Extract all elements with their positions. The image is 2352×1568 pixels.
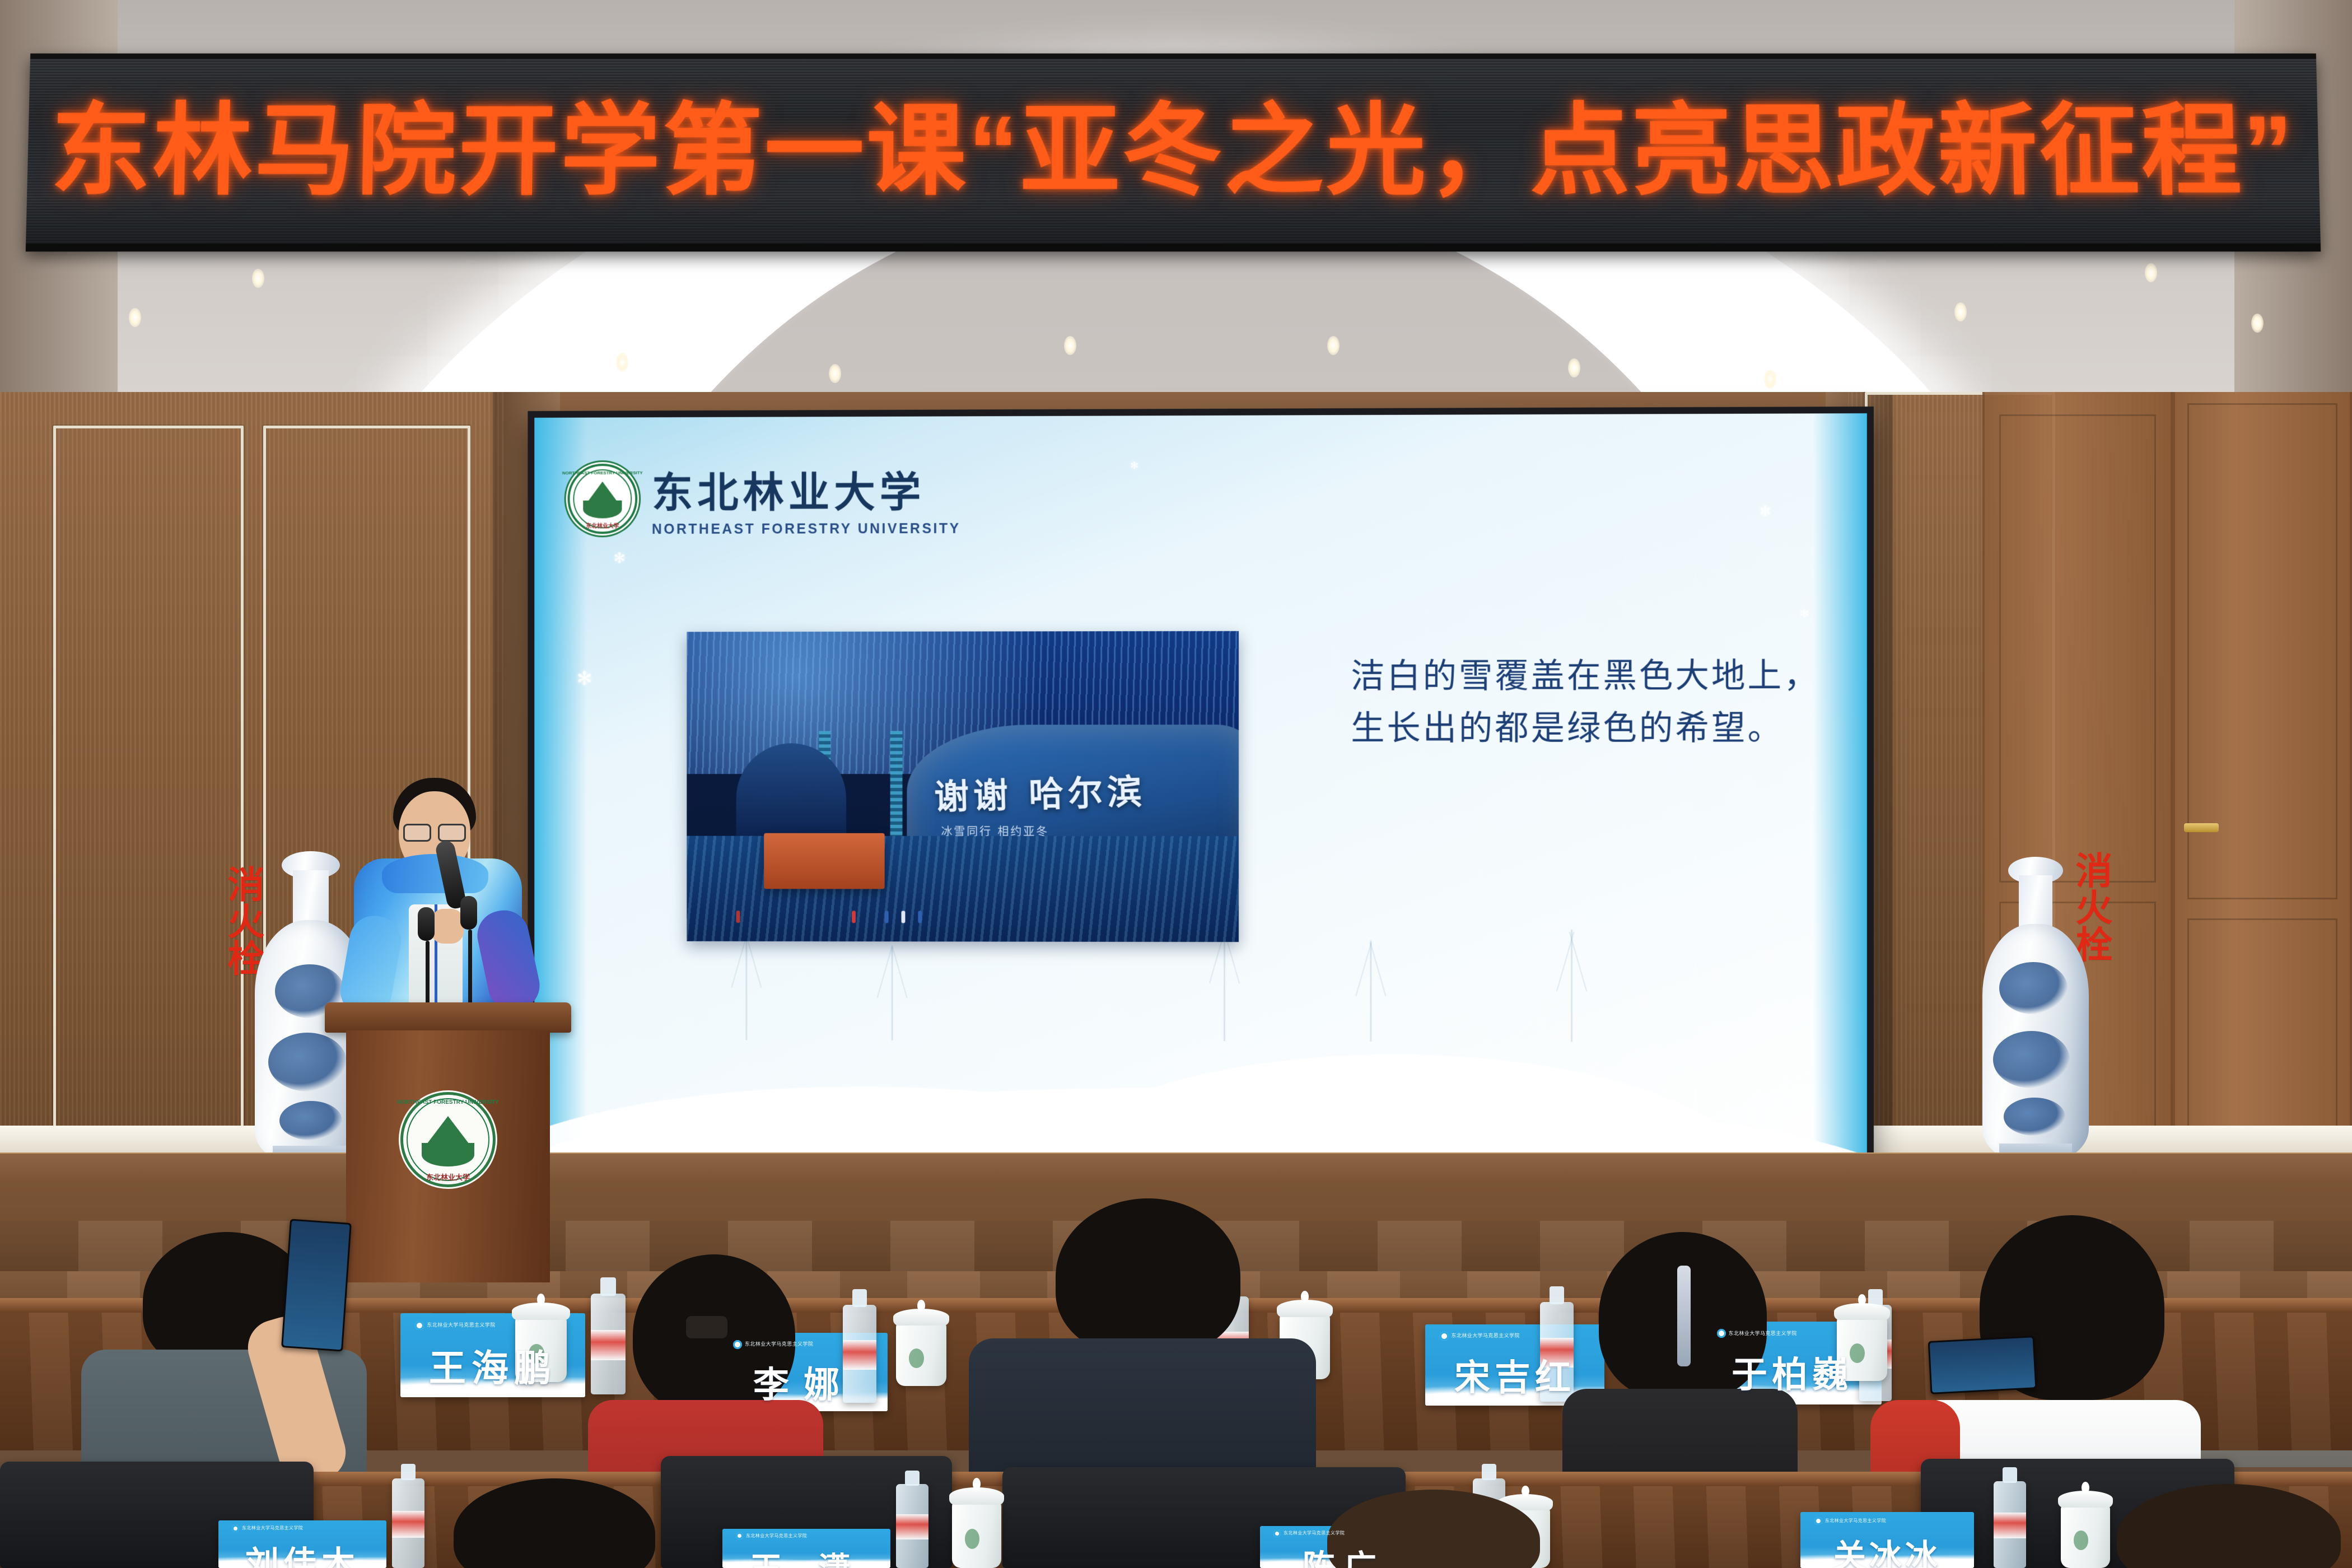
slide-tree-2 xyxy=(891,945,893,1040)
nameplate-seal-icon-8 xyxy=(1814,1517,1822,1525)
nameplate-org-5: 东北林业大学马克思主义学院 xyxy=(242,1526,303,1530)
tea-cup-5 xyxy=(952,1501,1001,1568)
person-hair-3 xyxy=(1056,1198,1240,1355)
vase-motif-left-2 xyxy=(268,1033,347,1091)
nameplate-seal-icon-4 xyxy=(1717,1329,1726,1338)
downlight-icon-9 xyxy=(1954,302,1967,321)
led-banner-text: 东林马院开学第一课“亚冬之光，点亮思政新征程” xyxy=(50,101,2297,201)
nameplate-logo-7: 东北林业大学马克思主义学院 xyxy=(1273,1530,1345,1537)
nameplate-name-3: 宋吉红 xyxy=(1425,1349,1604,1401)
slide-body-line-2: 生长出的都是绿色的希望。 xyxy=(1351,702,1858,755)
tea-cup-logo-2 xyxy=(909,1348,924,1368)
logo-chinese-name: 东北林业大学 xyxy=(652,459,961,519)
nameplate-name-7: 陈广 xyxy=(1260,1541,1428,1568)
nameplate-org-3: 东北林业大学马克思主义学院 xyxy=(1452,1333,1520,1338)
nameplate-seal-icon-1 xyxy=(415,1321,424,1330)
downlight-icon-2 xyxy=(252,269,264,288)
nameplate-org-8: 东北林业大学马克思主义学院 xyxy=(1825,1519,1886,1523)
nameplate-logo-1: 东北林业大学马克思主义学院 xyxy=(415,1321,495,1330)
vase-motif-right-2 xyxy=(1993,1031,2070,1088)
glasses-lens-right xyxy=(438,824,466,842)
university-seal-icon: NORTHEAST FORESTRY UNIVERSITY 1952 东北林业大… xyxy=(568,464,638,534)
nameplate-wang-xiao: 东北林业大学马克思主义学院 王 潇 xyxy=(722,1529,890,1568)
tea-cup-logo-7 xyxy=(2074,1530,2088,1550)
vase-body-right xyxy=(1982,924,2089,1162)
downlight-icon-1 xyxy=(129,308,141,327)
speaker-glasses-icon xyxy=(403,824,466,838)
slide-body-line-1: 洁白的雪覆盖在黑色大地上， xyxy=(1351,650,1858,703)
door-panel-lower xyxy=(2187,918,2337,1140)
wall-moulding-left-1 xyxy=(53,426,244,1159)
led-banner: 东林马院开学第一课“亚冬之光，点亮思政新征程” xyxy=(26,53,2321,251)
person-hair-8 xyxy=(2117,1484,2341,1568)
hair-clip-icon-2 xyxy=(686,1316,727,1338)
tea-cup-2 xyxy=(896,1322,946,1386)
nameplate-org-1: 东北林业大学马克思主义学院 xyxy=(427,1323,495,1328)
smartphone-screen-1 xyxy=(283,1221,349,1350)
nameplate-name-6: 王 潇 xyxy=(722,1543,890,1568)
water-bottle-6 xyxy=(392,1478,424,1568)
smartphone-2[interactable] xyxy=(1928,1336,2037,1394)
door-right[interactable] xyxy=(2173,381,2352,1170)
audience-person-6 xyxy=(437,1478,672,1568)
tea-cup-knob-2 xyxy=(917,1300,925,1312)
person-hair-6 xyxy=(454,1478,655,1568)
slide-university-logo: NORTHEAST FORESTRY UNIVERSITY 1952 东北林业大… xyxy=(568,459,961,538)
nameplate-org-4: 东北林业大学马克思主义学院 xyxy=(1729,1331,1797,1336)
podium: NORTHEAST FORESTRY UNIVERSITY 1952 东北林业大… xyxy=(336,1002,560,1282)
podium-mic-head-1 xyxy=(418,907,435,941)
nameplate-liu-jiamu: 东北林业大学马克思主义学院 刘佳木 xyxy=(218,1520,386,1568)
speaker-hand xyxy=(431,909,464,944)
nameplate-logo-6: 东北林业大学马克思主义学院 xyxy=(736,1532,807,1539)
slide-tree-4 xyxy=(1370,941,1372,1042)
podium-seal-year: 1952 xyxy=(438,1146,458,1155)
nameplate-seal-icon-5 xyxy=(232,1525,239,1532)
seal-year-text: 1952 xyxy=(595,503,610,510)
nameplate-logo-2: 东北林业大学马克思主义学院 xyxy=(733,1340,813,1349)
smartphone-screen-2 xyxy=(1930,1337,2035,1393)
nameplate-org-2: 东北林业大学马克思主义学院 xyxy=(745,1342,813,1347)
tea-cup-7 xyxy=(2061,1504,2110,1568)
tea-cup-knob-7 xyxy=(2082,1482,2089,1494)
water-bottle-7 xyxy=(896,1484,928,1568)
seal-english-text: NORTHEAST FORESTRY UNIVERSITY xyxy=(562,470,643,475)
tea-cup-knob-5 xyxy=(973,1478,981,1490)
downlight-icon-3 xyxy=(616,353,628,372)
nameplate-org-7: 东北林业大学马克思主义学院 xyxy=(1284,1531,1345,1536)
downlight-icon-8 xyxy=(1764,370,1776,389)
projection-screen-frame: ✻ ✻ ✻ ✻ ✻ NORTHEAST FORESTRY UNIVERSITY … xyxy=(528,407,1874,1169)
nameplate-name-2: 李娜 xyxy=(720,1356,888,1408)
downlight-icon-11 xyxy=(2251,314,2264,333)
nameplate-guan-bingbing: 东北林业大学马克思主义学院 关冰冰 xyxy=(1800,1512,1974,1568)
bottle-label-9 xyxy=(1994,1513,2026,1539)
podium-university-seal-icon: NORTHEAST FORESTRY UNIVERSITY 1952 东北林业大… xyxy=(400,1092,496,1187)
nameplate-name-4: 于柏巍 xyxy=(1702,1346,1882,1398)
vase-motif-right-1 xyxy=(1999,962,2068,1015)
slide-tree-5 xyxy=(1571,930,1572,1042)
slide-photo: 谢谢 哈尔滨 冰雪同行 相约亚冬 xyxy=(687,631,1239,942)
photo-performer-3 xyxy=(918,911,922,923)
photo-stage-boat xyxy=(764,833,885,889)
speaker-hood xyxy=(382,854,488,893)
nameplate-seal-icon-2 xyxy=(733,1340,742,1349)
slide-body-text: 洁白的雪覆盖在黑色大地上， 生长出的都是绿色的希望。 xyxy=(1351,650,1858,755)
audience-person-8 xyxy=(2106,1484,2352,1568)
vase-motif-right-3 xyxy=(2004,1098,2065,1136)
photo-performer-4 xyxy=(852,911,856,923)
bottle-label-7 xyxy=(896,1514,928,1539)
photo-performer-5 xyxy=(736,911,740,923)
podium-seal-chinese: 东北林业大学 xyxy=(426,1172,470,1182)
nameplate-name-8: 关冰冰 xyxy=(1800,1530,1974,1568)
smartphone-1[interactable] xyxy=(281,1219,352,1351)
glasses-lens-left xyxy=(403,824,431,842)
nameplate-logo-8: 东北林业大学马克思主义学院 xyxy=(1814,1517,1886,1525)
water-bottle-9 xyxy=(1994,1481,2026,1568)
hair-ornament-icon-4 xyxy=(1677,1266,1691,1366)
speaker-person xyxy=(347,770,532,1033)
tea-cup-lid-4 xyxy=(1834,1303,1891,1320)
downlight-icon-7 xyxy=(1568,358,1580,377)
photo-performer-2 xyxy=(902,911,906,923)
downlight-icon-6 xyxy=(1327,336,1340,355)
nameplate-seal-icon-6 xyxy=(736,1532,743,1539)
nameplate-logo-3: 东北林业大学马克思主义学院 xyxy=(1440,1332,1520,1341)
nameplate-name-5: 刘佳木 xyxy=(218,1537,386,1568)
nameplate-name-1: 王海鹏 xyxy=(400,1338,585,1392)
downlight-icon-5 xyxy=(1064,336,1076,355)
nameplate-logo-5: 东北林业大学马克思主义学院 xyxy=(232,1525,303,1532)
seal-chinese-text: 东北林业大学 xyxy=(586,521,619,529)
projection-screen: ✻ ✻ ✻ ✻ ✻ NORTHEAST FORESTRY UNIVERSITY … xyxy=(534,413,1867,1163)
photo-caption-text: 谢谢 哈尔滨 xyxy=(934,763,1147,819)
nameplate-seal-icon-7 xyxy=(1273,1530,1281,1537)
nameplate-logo-4: 东北林业大学马克思主义学院 xyxy=(1717,1329,1797,1338)
logo-english-name: NORTHEAST FORESTRY UNIVERSITY xyxy=(652,521,961,538)
downlight-icon-10 xyxy=(2145,263,2157,282)
photo-performer-1 xyxy=(885,911,889,923)
podium-seal-english: NORTHEAST FORESTRY UNIVERSITY xyxy=(397,1099,499,1105)
podium-top xyxy=(325,1002,571,1033)
downlight-icon-4 xyxy=(829,364,841,383)
tea-cup-logo-5 xyxy=(965,1529,979,1549)
vase-motif-left-3 xyxy=(279,1101,342,1140)
lecture-hall-scene: 消火栓 消火栓 东林马院开学第一课“亚冬之光，点亮思政新征程” xyxy=(0,0,2352,1568)
nameplate-seal-icon-3 xyxy=(1440,1332,1449,1341)
door-handle-icon[interactable] xyxy=(2184,823,2219,832)
nameplate-org-6: 东北林业大学马克思主义学院 xyxy=(746,1534,807,1538)
door-panel-upper-2 xyxy=(1999,414,2156,883)
porcelain-vase-right xyxy=(1982,857,2089,1162)
slide-edge-right xyxy=(1813,413,1867,1163)
bottle-label-6 xyxy=(392,1511,424,1538)
podium-mic-head-2 xyxy=(460,896,477,930)
